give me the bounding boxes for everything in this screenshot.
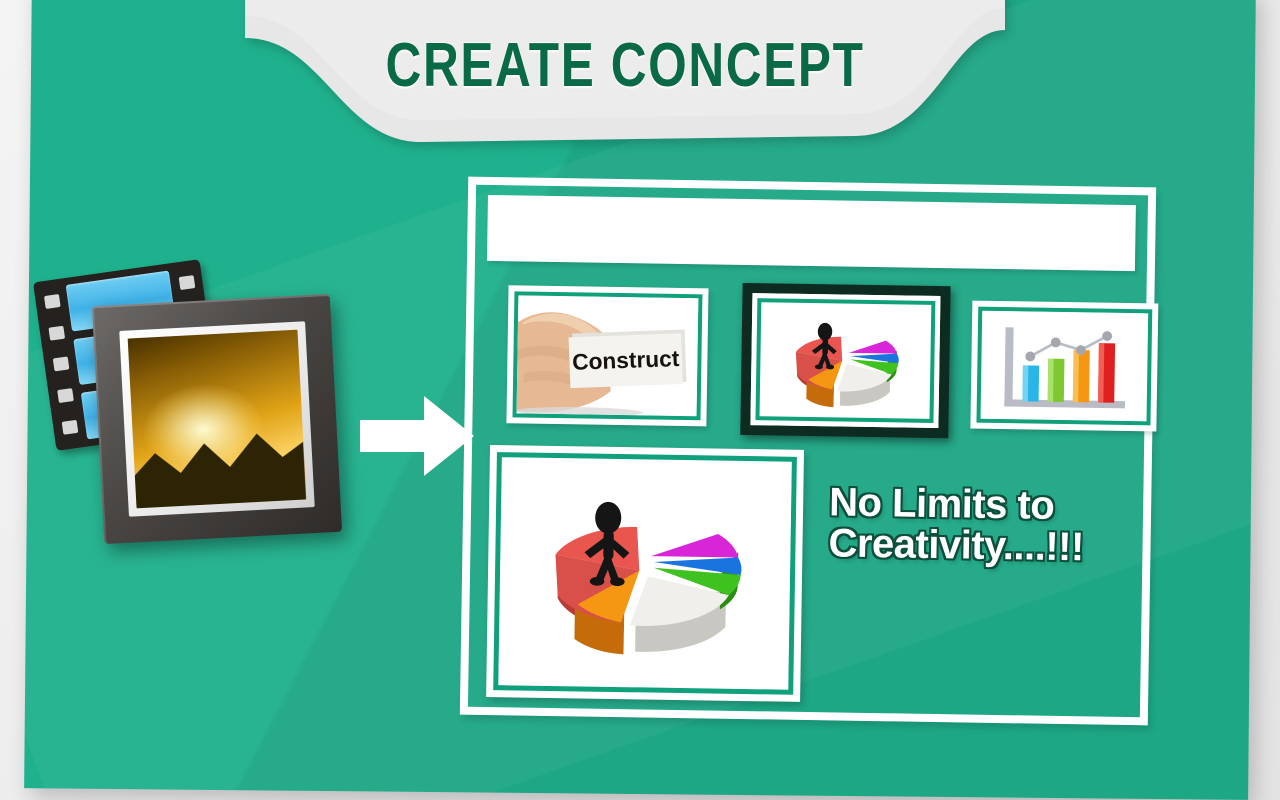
photo-frame-icon bbox=[92, 294, 342, 544]
pie-chart-preview-icon bbox=[498, 457, 792, 690]
app-screenshot: CREATE CONCEPT bbox=[0, 0, 1280, 800]
thumbnail-construct[interactable]: Construct bbox=[506, 285, 708, 426]
bar-chart-icon bbox=[981, 311, 1149, 422]
right-arrow-icon bbox=[358, 388, 476, 484]
sunset-photo bbox=[128, 330, 307, 509]
page-title: CREATE CONCEPT bbox=[321, 30, 929, 101]
hills-silhouette bbox=[128, 413, 307, 508]
media-gallery-icon[interactable] bbox=[36, 262, 376, 562]
tagline: No Limits to Creativity....!!! bbox=[828, 482, 1129, 568]
hand-holding-card-icon: Construct bbox=[517, 295, 699, 416]
editor-panel: Construct bbox=[460, 177, 1156, 726]
panel-toolbar[interactable] bbox=[487, 195, 1136, 271]
tagline-line-1: No Limits to bbox=[829, 480, 1055, 528]
thumbnail-bar-chart[interactable] bbox=[970, 301, 1158, 432]
svg-text:Construct: Construct bbox=[572, 345, 680, 375]
preview-image[interactable] bbox=[486, 445, 804, 702]
thumbnail-pie-chart-selected[interactable] bbox=[740, 283, 950, 438]
pie-chart-icon bbox=[755, 298, 935, 423]
tagline-line-2: Creativity....!!! bbox=[828, 523, 1129, 569]
thumbnail-row: Construct bbox=[484, 277, 1136, 439]
